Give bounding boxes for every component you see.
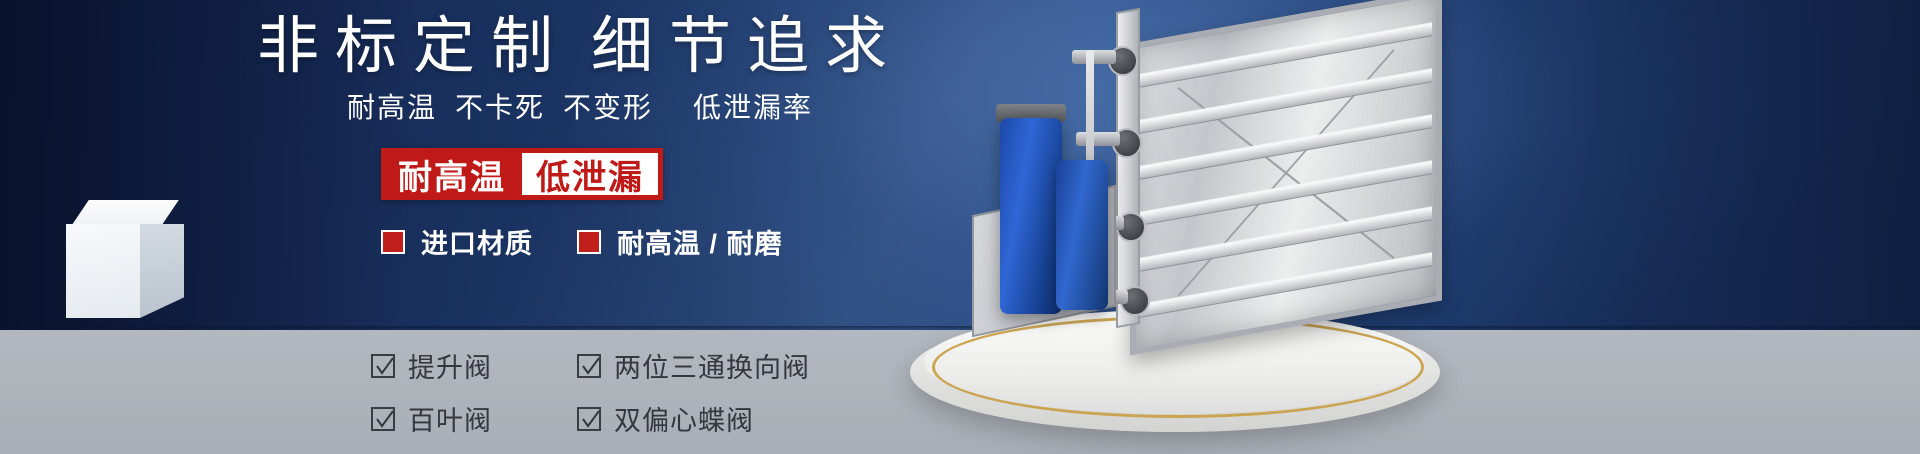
damper-valve-body bbox=[1130, 0, 1442, 356]
feature-item: 进口材质 bbox=[381, 222, 533, 261]
feature-label: 耐高温 / 耐磨 bbox=[617, 222, 783, 261]
checked-box-icon bbox=[371, 407, 395, 431]
valve-checklist: 提升阀 两位三通换向阀 百叶阀 双偏心蝶阀 bbox=[371, 346, 810, 438]
cube-side-face bbox=[140, 224, 184, 318]
valve-list-item: 提升阀 bbox=[371, 346, 551, 385]
checked-box-icon bbox=[577, 354, 601, 378]
decorative-cube bbox=[66, 200, 184, 318]
cube-front-face bbox=[66, 224, 140, 318]
filled-square-icon bbox=[577, 230, 601, 254]
product-image bbox=[880, 0, 1920, 454]
headline-part-2: 细节追求 bbox=[591, 12, 903, 81]
subheadline-item-4: 低泄漏率 bbox=[693, 92, 813, 123]
valve-label: 双偏心蝶阀 bbox=[614, 399, 754, 438]
valve-label: 提升阀 bbox=[408, 346, 492, 385]
pneumatic-actuator bbox=[1000, 118, 1062, 314]
promo-banner: 非标定制细节追求 耐高温不卡死不变形低泄漏率 耐高温 低泄漏 进口材质 耐高温 … bbox=[0, 0, 1920, 454]
feature-label: 进口材质 bbox=[421, 222, 533, 261]
linkage-arm bbox=[1076, 132, 1120, 146]
badge-right-label: 低泄漏 bbox=[522, 153, 658, 195]
feature-row: 进口材质 耐高温 / 耐磨 bbox=[381, 222, 783, 261]
valve-label: 百叶阀 bbox=[408, 399, 492, 438]
valve-label: 两位三通换向阀 bbox=[614, 346, 810, 385]
valve-list-item: 两位三通换向阀 bbox=[577, 346, 810, 385]
valve-list-item: 百叶阀 bbox=[371, 399, 551, 438]
feature-item: 耐高温 / 耐磨 bbox=[577, 222, 783, 261]
headline-part-1: 非标定制 bbox=[257, 12, 569, 81]
cube-top-face bbox=[71, 200, 179, 226]
subheadline-item-3: 不变形 bbox=[563, 92, 653, 123]
linkage-arm bbox=[1072, 50, 1116, 64]
pneumatic-actuator-secondary bbox=[1056, 160, 1108, 310]
checked-box-icon bbox=[577, 407, 601, 431]
highlight-badge: 耐高温 低泄漏 bbox=[381, 148, 663, 200]
badge-left-label: 耐高温 bbox=[386, 153, 522, 195]
subheadline-item-1: 耐高温 bbox=[347, 92, 437, 123]
checked-box-icon bbox=[371, 354, 395, 378]
subheadline-item-2: 不卡死 bbox=[455, 92, 545, 123]
valve-list-item: 双偏心蝶阀 bbox=[577, 399, 810, 438]
filled-square-icon bbox=[381, 230, 405, 254]
